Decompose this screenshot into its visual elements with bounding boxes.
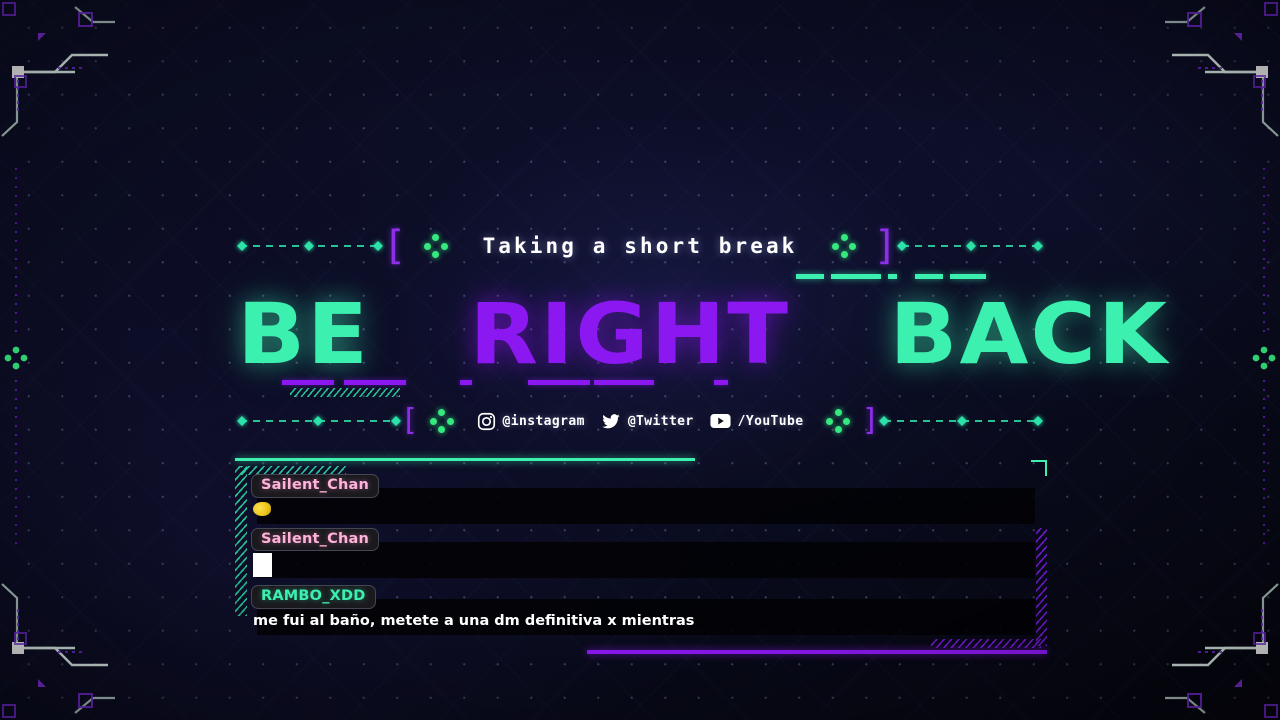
rail-node <box>879 416 889 426</box>
brb-overlay-screen: [ Taking a short break ] BE RIGHT <box>0 0 1280 720</box>
social-handle: @Twitter <box>628 414 694 429</box>
rail-node <box>1033 241 1043 251</box>
title-word-right: RIGHT <box>470 285 791 383</box>
bracket-left-icon: [ <box>400 406 418 436</box>
chat-message-text <box>251 500 1035 520</box>
page-title: BE RIGHT BACK <box>237 284 1043 384</box>
diamond-cluster-icon <box>429 408 455 434</box>
chat-message: RAMBO_XDD me fui al baño, metete a una d… <box>251 585 1035 631</box>
frame-corner-top-right <box>1130 0 1280 135</box>
youtube-icon <box>710 413 731 429</box>
chat-message-text <box>251 553 1035 577</box>
social-handle: /YouTube <box>738 414 804 429</box>
chat-message-list[interactable]: Sailent_Chan Sailent_Chan RAMBO_XDD me f… <box>251 474 1035 642</box>
instagram-icon <box>477 412 496 431</box>
social-handle: @instagram <box>503 414 585 429</box>
chat-username-badge: Sailent_Chan <box>251 528 379 552</box>
chat-message-text: me fui al baño, metete a una dm definiti… <box>251 611 1035 631</box>
bracket-left-icon: [ <box>382 226 406 266</box>
overlay-center-column: [ Taking a short break ] BE RIGHT <box>0 214 1280 442</box>
subtitle-rail-right <box>902 245 1040 247</box>
chat-panel: Sailent_Chan Sailent_Chan RAMBO_XDD me f… <box>233 458 1049 654</box>
social-link-instagram[interactable]: @instagram <box>477 412 585 431</box>
chat-username-badge: Sailent_Chan <box>251 474 379 498</box>
chat-frame-bottom-line <box>587 650 1047 654</box>
frame-corner-bottom-left <box>0 585 150 720</box>
rail-node <box>304 241 314 251</box>
chat-frame-top-line <box>235 458 695 461</box>
chat-frame-hatch-right <box>1036 528 1047 646</box>
subtitle-row: [ Taking a short break ] <box>240 214 1040 278</box>
title-hatch-strip <box>290 388 400 397</box>
twitter-icon <box>601 412 621 431</box>
subtitle-text: Taking a short break <box>461 234 820 258</box>
yellow-emote-icon <box>253 502 271 516</box>
diamond-cluster-icon <box>831 233 857 259</box>
social-link-twitter[interactable]: @Twitter <box>601 412 694 431</box>
title-dash-accents-bottom <box>282 380 752 386</box>
rail-node <box>1033 416 1043 426</box>
rail-node <box>237 416 247 426</box>
rail-node <box>897 241 907 251</box>
diamond-cluster-icon <box>825 408 851 434</box>
brb-title-block: BE RIGHT BACK <box>260 284 1020 388</box>
rail-node <box>966 241 976 251</box>
rail-node <box>237 241 247 251</box>
chat-frame-hatch-left <box>235 466 247 616</box>
frame-corner-top-left <box>0 0 150 135</box>
rail-node <box>313 416 323 426</box>
bracket-right-icon: ] <box>861 406 879 436</box>
title-word-back: BACK <box>890 285 1170 383</box>
title-word-be: BE <box>237 285 370 383</box>
chat-username-badge: RAMBO_XDD <box>251 585 376 609</box>
chat-message: Sailent_Chan <box>251 474 1035 520</box>
rail-node <box>957 416 967 426</box>
social-link-youtube[interactable]: /YouTube <box>710 413 804 429</box>
diamond-cluster-icon <box>423 233 449 259</box>
subtitle-rail-left <box>240 245 378 247</box>
chat-message: Sailent_Chan <box>251 528 1035 578</box>
social-row: [ @instagram <box>240 400 1040 442</box>
social-rail-left <box>240 420 396 422</box>
social-links: @instagram @Twitter <box>461 412 820 431</box>
title-dash-accents-top <box>796 274 986 279</box>
bracket-right-icon: ] <box>873 226 897 266</box>
white-block-emote-icon <box>253 553 272 577</box>
social-rail-right <box>884 420 1040 422</box>
frame-corner-bottom-right <box>1130 585 1280 720</box>
